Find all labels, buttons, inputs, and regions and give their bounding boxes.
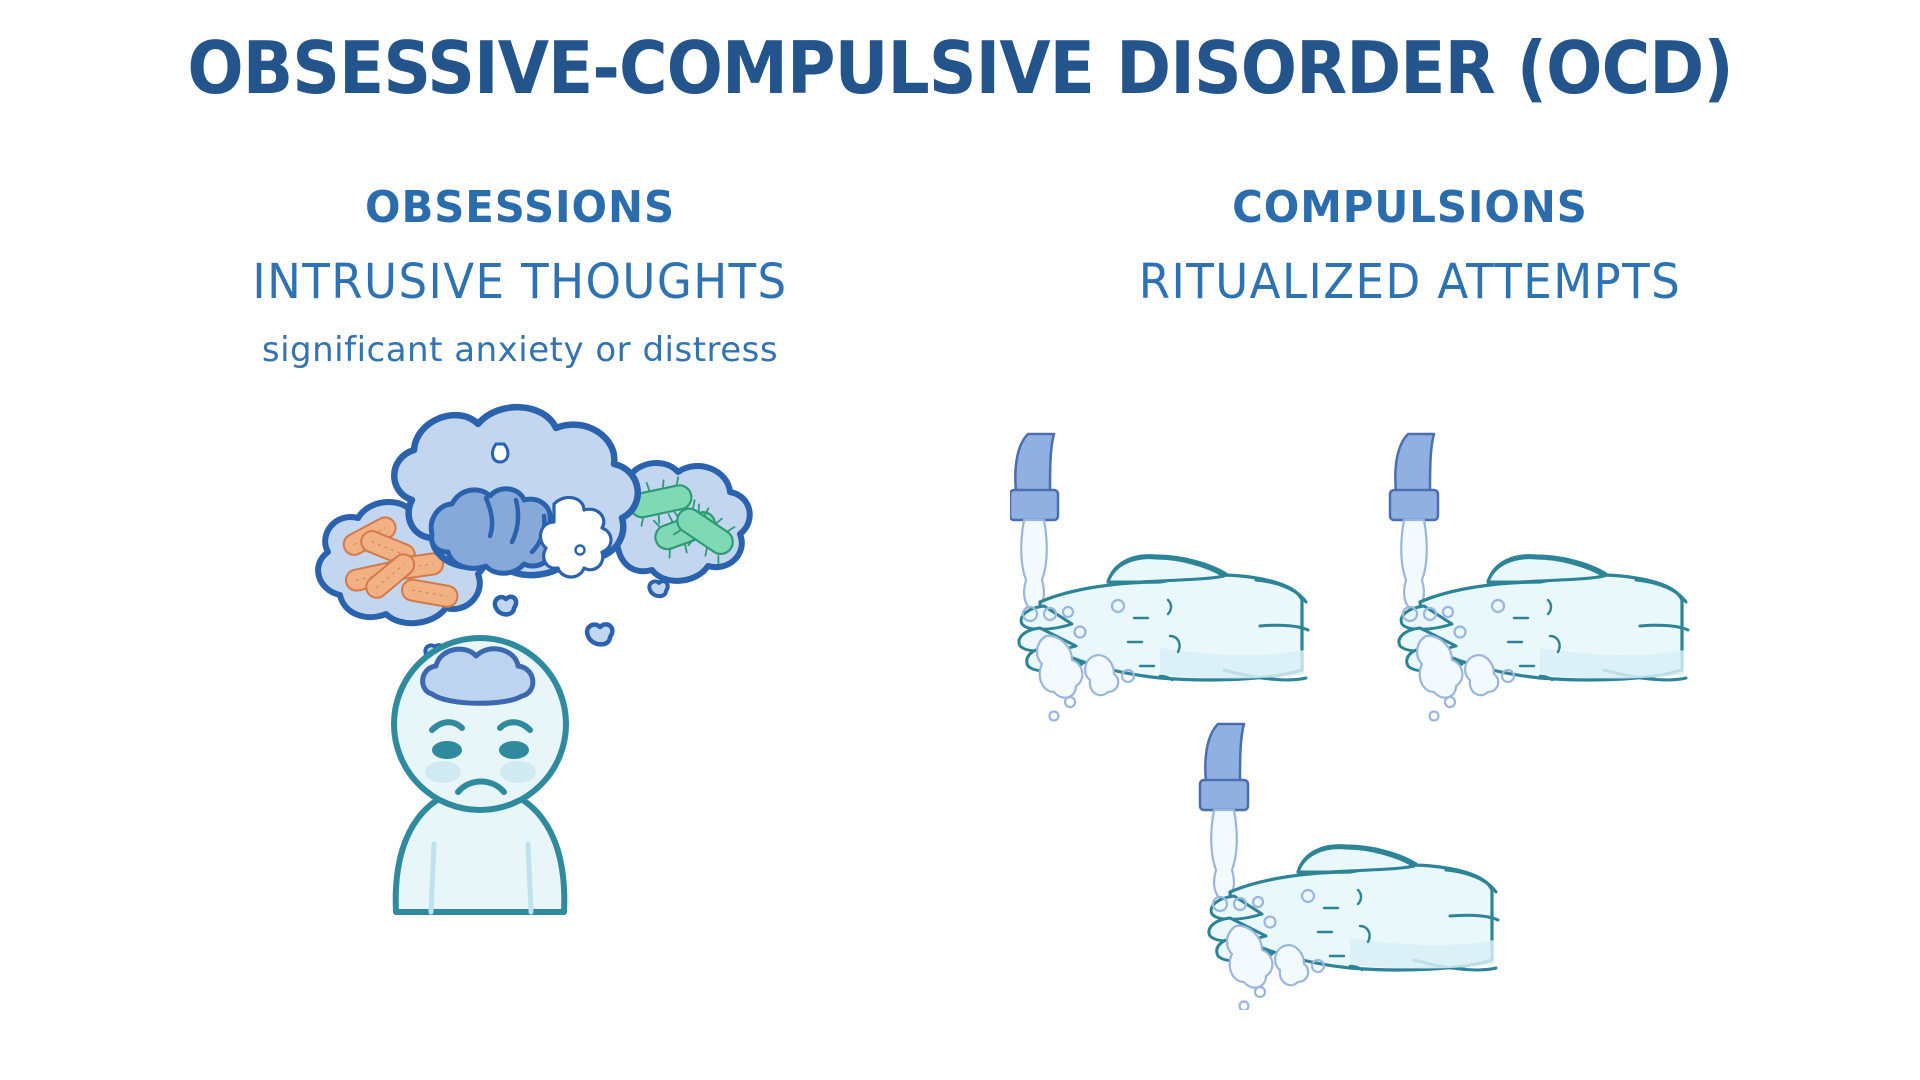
compulsions-heading: COMPULSIONS: [1049, 182, 1771, 233]
obsessions-note: significant anxiety or distress: [140, 330, 900, 370]
gloomy-cloud-icon: [423, 649, 533, 703]
water-drop-icon: [493, 444, 508, 462]
obsessions-illustration: [300, 400, 760, 920]
compulsions-subheading: RITUALIZED ATTEMPTS: [1053, 254, 1767, 310]
sad-person-figure: [394, 638, 566, 912]
hand-washing-unit-1: [1010, 434, 1308, 721]
hand-washing-unit-3: [1200, 724, 1498, 1010]
hand-washing-unit-2: [1390, 434, 1688, 721]
illustration-canvas: OBSESSIVE-COMPULSIVE DISORDER (OCD) OBSE…: [0, 0, 1920, 1080]
obsessions-heading: OBSESSIONS: [159, 182, 881, 233]
page-title: OBSESSIVE-COMPULSIVE DISORDER (OCD): [77, 26, 1843, 110]
compulsions-illustration: [1010, 430, 1810, 1010]
obsessions-subheading: INTRUSIVE THOUGHTS: [163, 254, 877, 310]
